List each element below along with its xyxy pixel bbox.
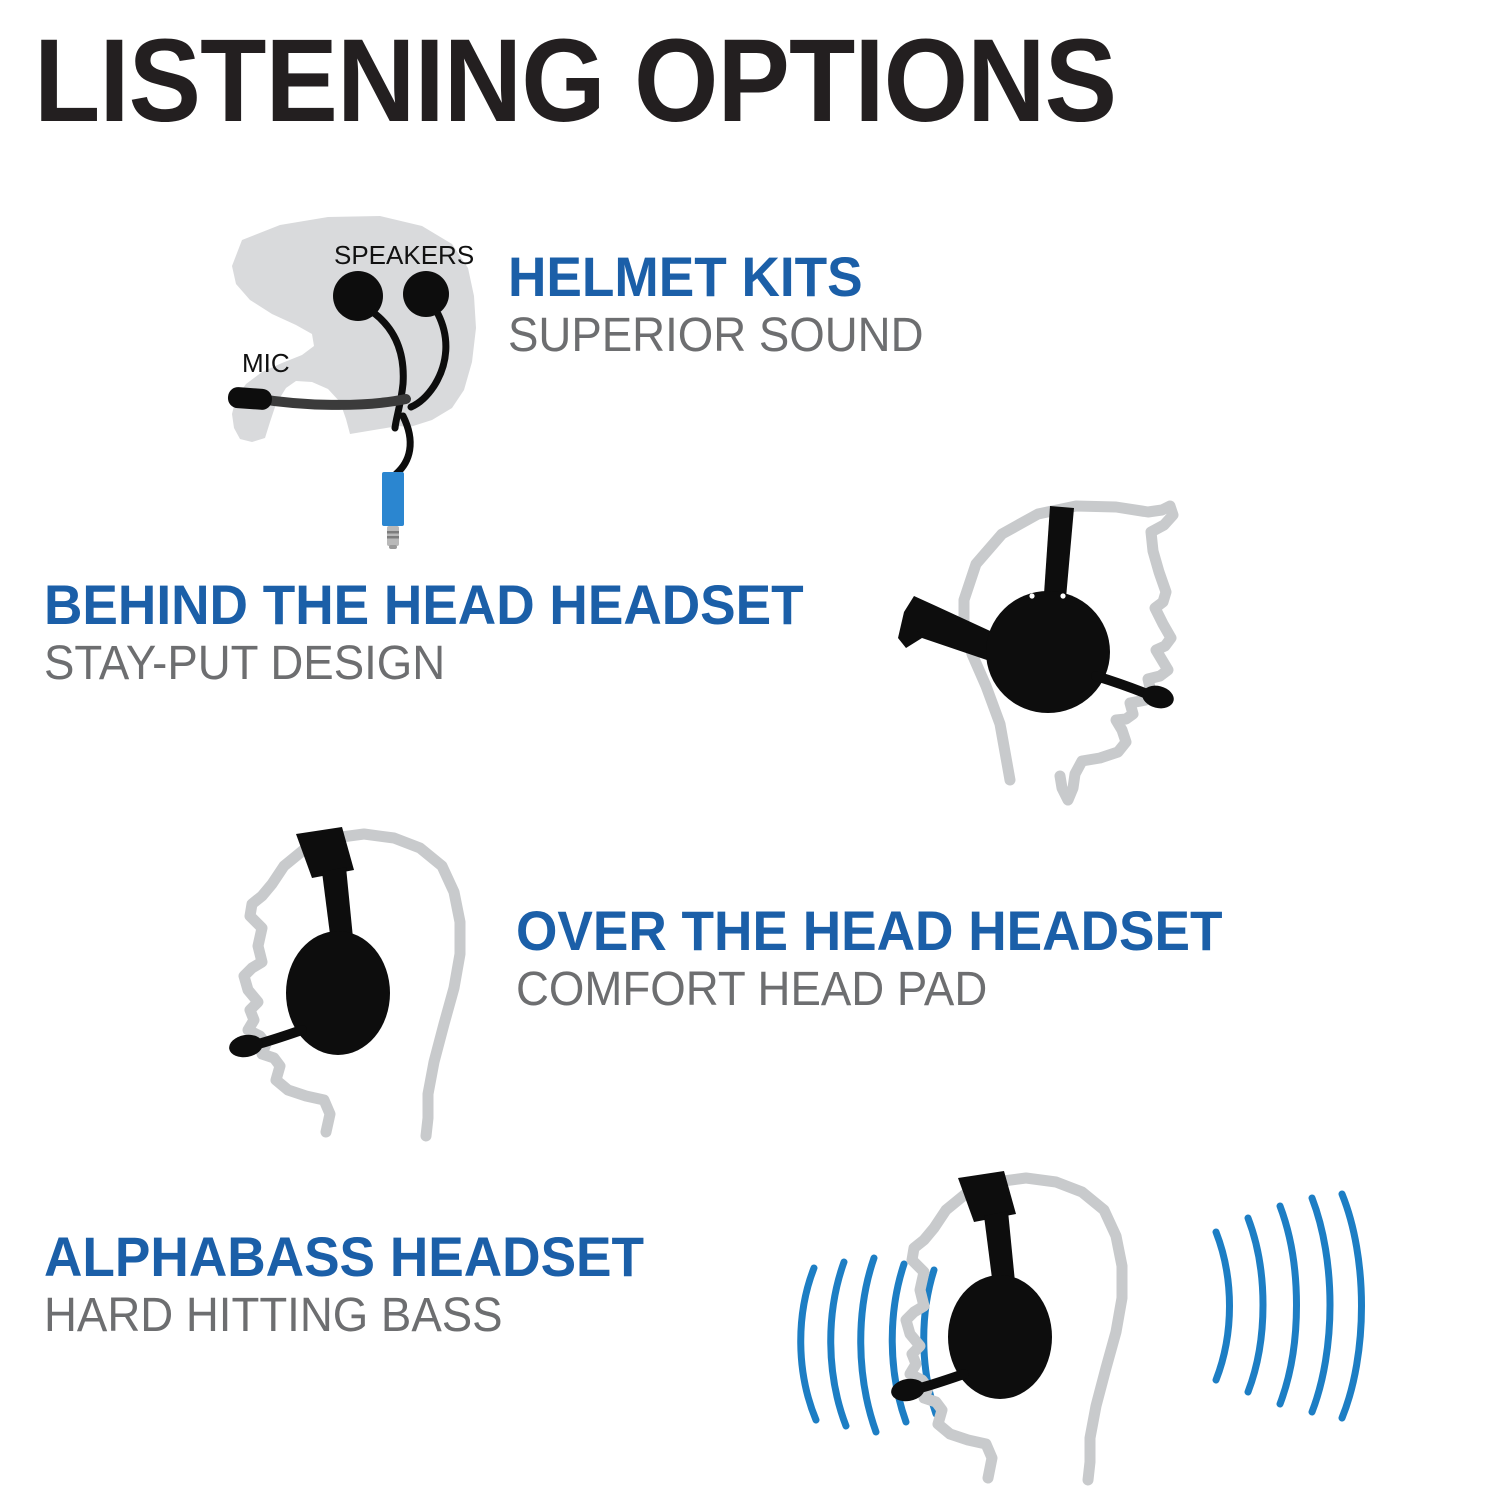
ear-cup-icon — [948, 1275, 1052, 1399]
option-text-helmet-kits: HELMET KITS SUPERIOR SOUND — [508, 248, 945, 362]
option-text-behind-the-head: BEHIND THE HEAD HEADSET STAY-PUT DESIGN — [44, 576, 844, 690]
option-subtitle-alphabass: HARD HITTING BASS — [44, 1291, 644, 1341]
option-text-alphabass: ALPHABASS HEADSET HARD HITTING BASS — [44, 1228, 676, 1342]
ear-cup-icon — [986, 591, 1110, 713]
option-subtitle-over-the-head: COMFORT HEAD PAD — [516, 965, 1222, 1015]
audio-plug-icon — [382, 472, 404, 526]
option-subtitle-helmet-kits: SUPERIOR SOUND — [508, 311, 924, 361]
option-subtitle-behind-the-head: STAY-PUT DESIGN — [44, 639, 804, 689]
behind-the-head-headset-illustration — [860, 488, 1260, 828]
speaker-right-icon — [403, 271, 449, 317]
over-the-head-headset-illustration — [188, 818, 548, 1153]
page-title: LISTENING OPTIONS — [34, 22, 1116, 140]
helmet-kit-illustration: SPEAKERS MIC — [210, 196, 530, 556]
speakers-label: SPEAKERS — [334, 240, 474, 270]
mic-label: MIC — [242, 348, 290, 378]
option-title-over-the-head: OVER THE HEAD HEADSET — [516, 902, 1222, 959]
option-title-behind-the-head: BEHIND THE HEAD HEADSET — [44, 576, 804, 633]
infographic-page: LISTENING OPTIONS SPEAKERS MIC — [0, 0, 1500, 1500]
option-text-over-the-head: OVER THE HEAD HEADSET COMFORT HEAD PAD — [516, 902, 1260, 1016]
ear-cup-icon — [286, 931, 390, 1055]
option-title-alphabass: ALPHABASS HEADSET — [44, 1228, 644, 1285]
mic-capsule-icon — [227, 386, 272, 410]
sound-waves-right-icon — [1216, 1194, 1362, 1418]
headband-strap-icon — [1044, 506, 1074, 598]
alphabass-headset-illustration — [782, 1118, 1362, 1488]
option-title-helmet-kits: HELMET KITS — [508, 248, 924, 305]
